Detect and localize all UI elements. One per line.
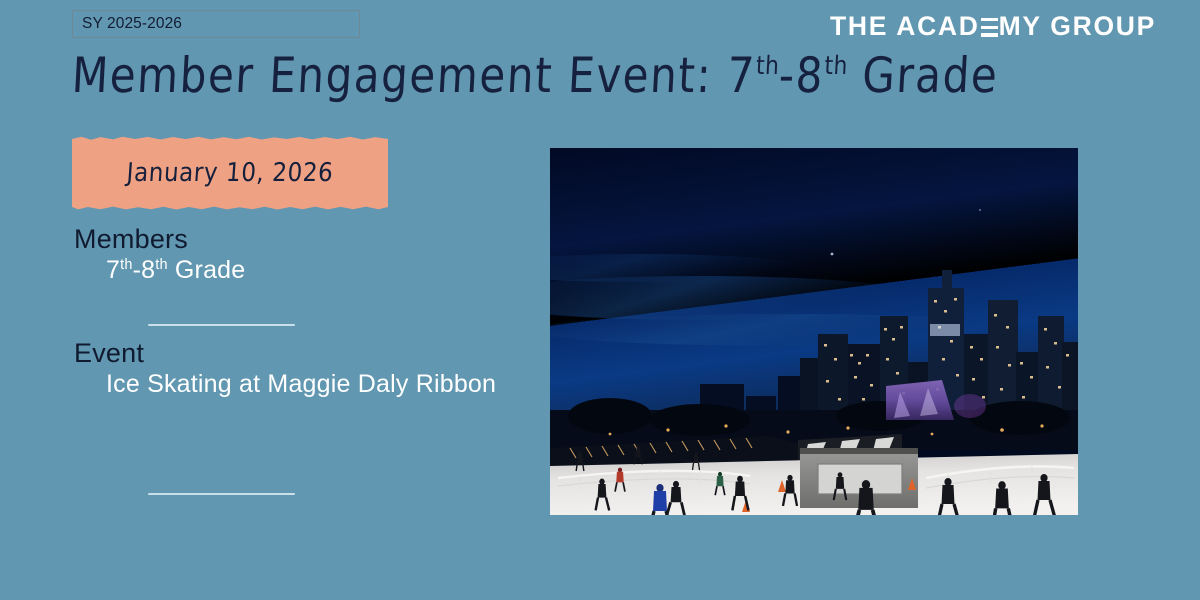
- title-sup-1: th: [755, 52, 780, 81]
- school-year-textbox[interactable]: SY 2025-2026: [72, 10, 360, 38]
- slide-canvas: SY 2025-2026 THE ACADMY GROUP Member Eng…: [0, 0, 1200, 600]
- title-segment-1: Member Engagement Event: 7: [71, 47, 757, 104]
- members-segment-2: -8: [133, 256, 156, 284]
- divider-top: [148, 324, 295, 326]
- members-value: 7th-8th Grade: [106, 256, 526, 286]
- event-photo-graphic: [550, 148, 1078, 515]
- members-sup-2: th: [155, 257, 168, 273]
- event-photo: [550, 148, 1078, 515]
- title-sup-2: th: [824, 52, 849, 81]
- members-segment-1: 7: [106, 256, 120, 284]
- brand-logo: THE ACADMY GROUP: [830, 9, 1156, 43]
- divider-bottom: [148, 493, 295, 495]
- event-date-text: January 10, 2026: [71, 158, 389, 187]
- event-value: Ice Skating at Maggie Daly Ribbon: [106, 370, 506, 400]
- page-title: Member Engagement Event: 7th-8th Grade: [71, 48, 974, 104]
- date-banner: January 10, 2026: [72, 136, 388, 210]
- title-segment-3: Grade: [846, 47, 1000, 104]
- members-segment-3: Grade: [168, 256, 246, 284]
- members-heading: Members: [74, 224, 188, 255]
- members-sup-1: th: [120, 257, 133, 273]
- title-segment-2: -8: [777, 47, 825, 104]
- brand-text-part-2: MY GROUP: [999, 11, 1156, 41]
- brand-text-part-1: THE ACAD: [830, 11, 980, 41]
- event-heading: Event: [74, 338, 144, 369]
- school-year-label: SY 2025-2026: [82, 15, 182, 33]
- brand-logo-text: THE ACADMY GROUP: [830, 13, 1156, 40]
- stylized-e-icon: [981, 18, 998, 37]
